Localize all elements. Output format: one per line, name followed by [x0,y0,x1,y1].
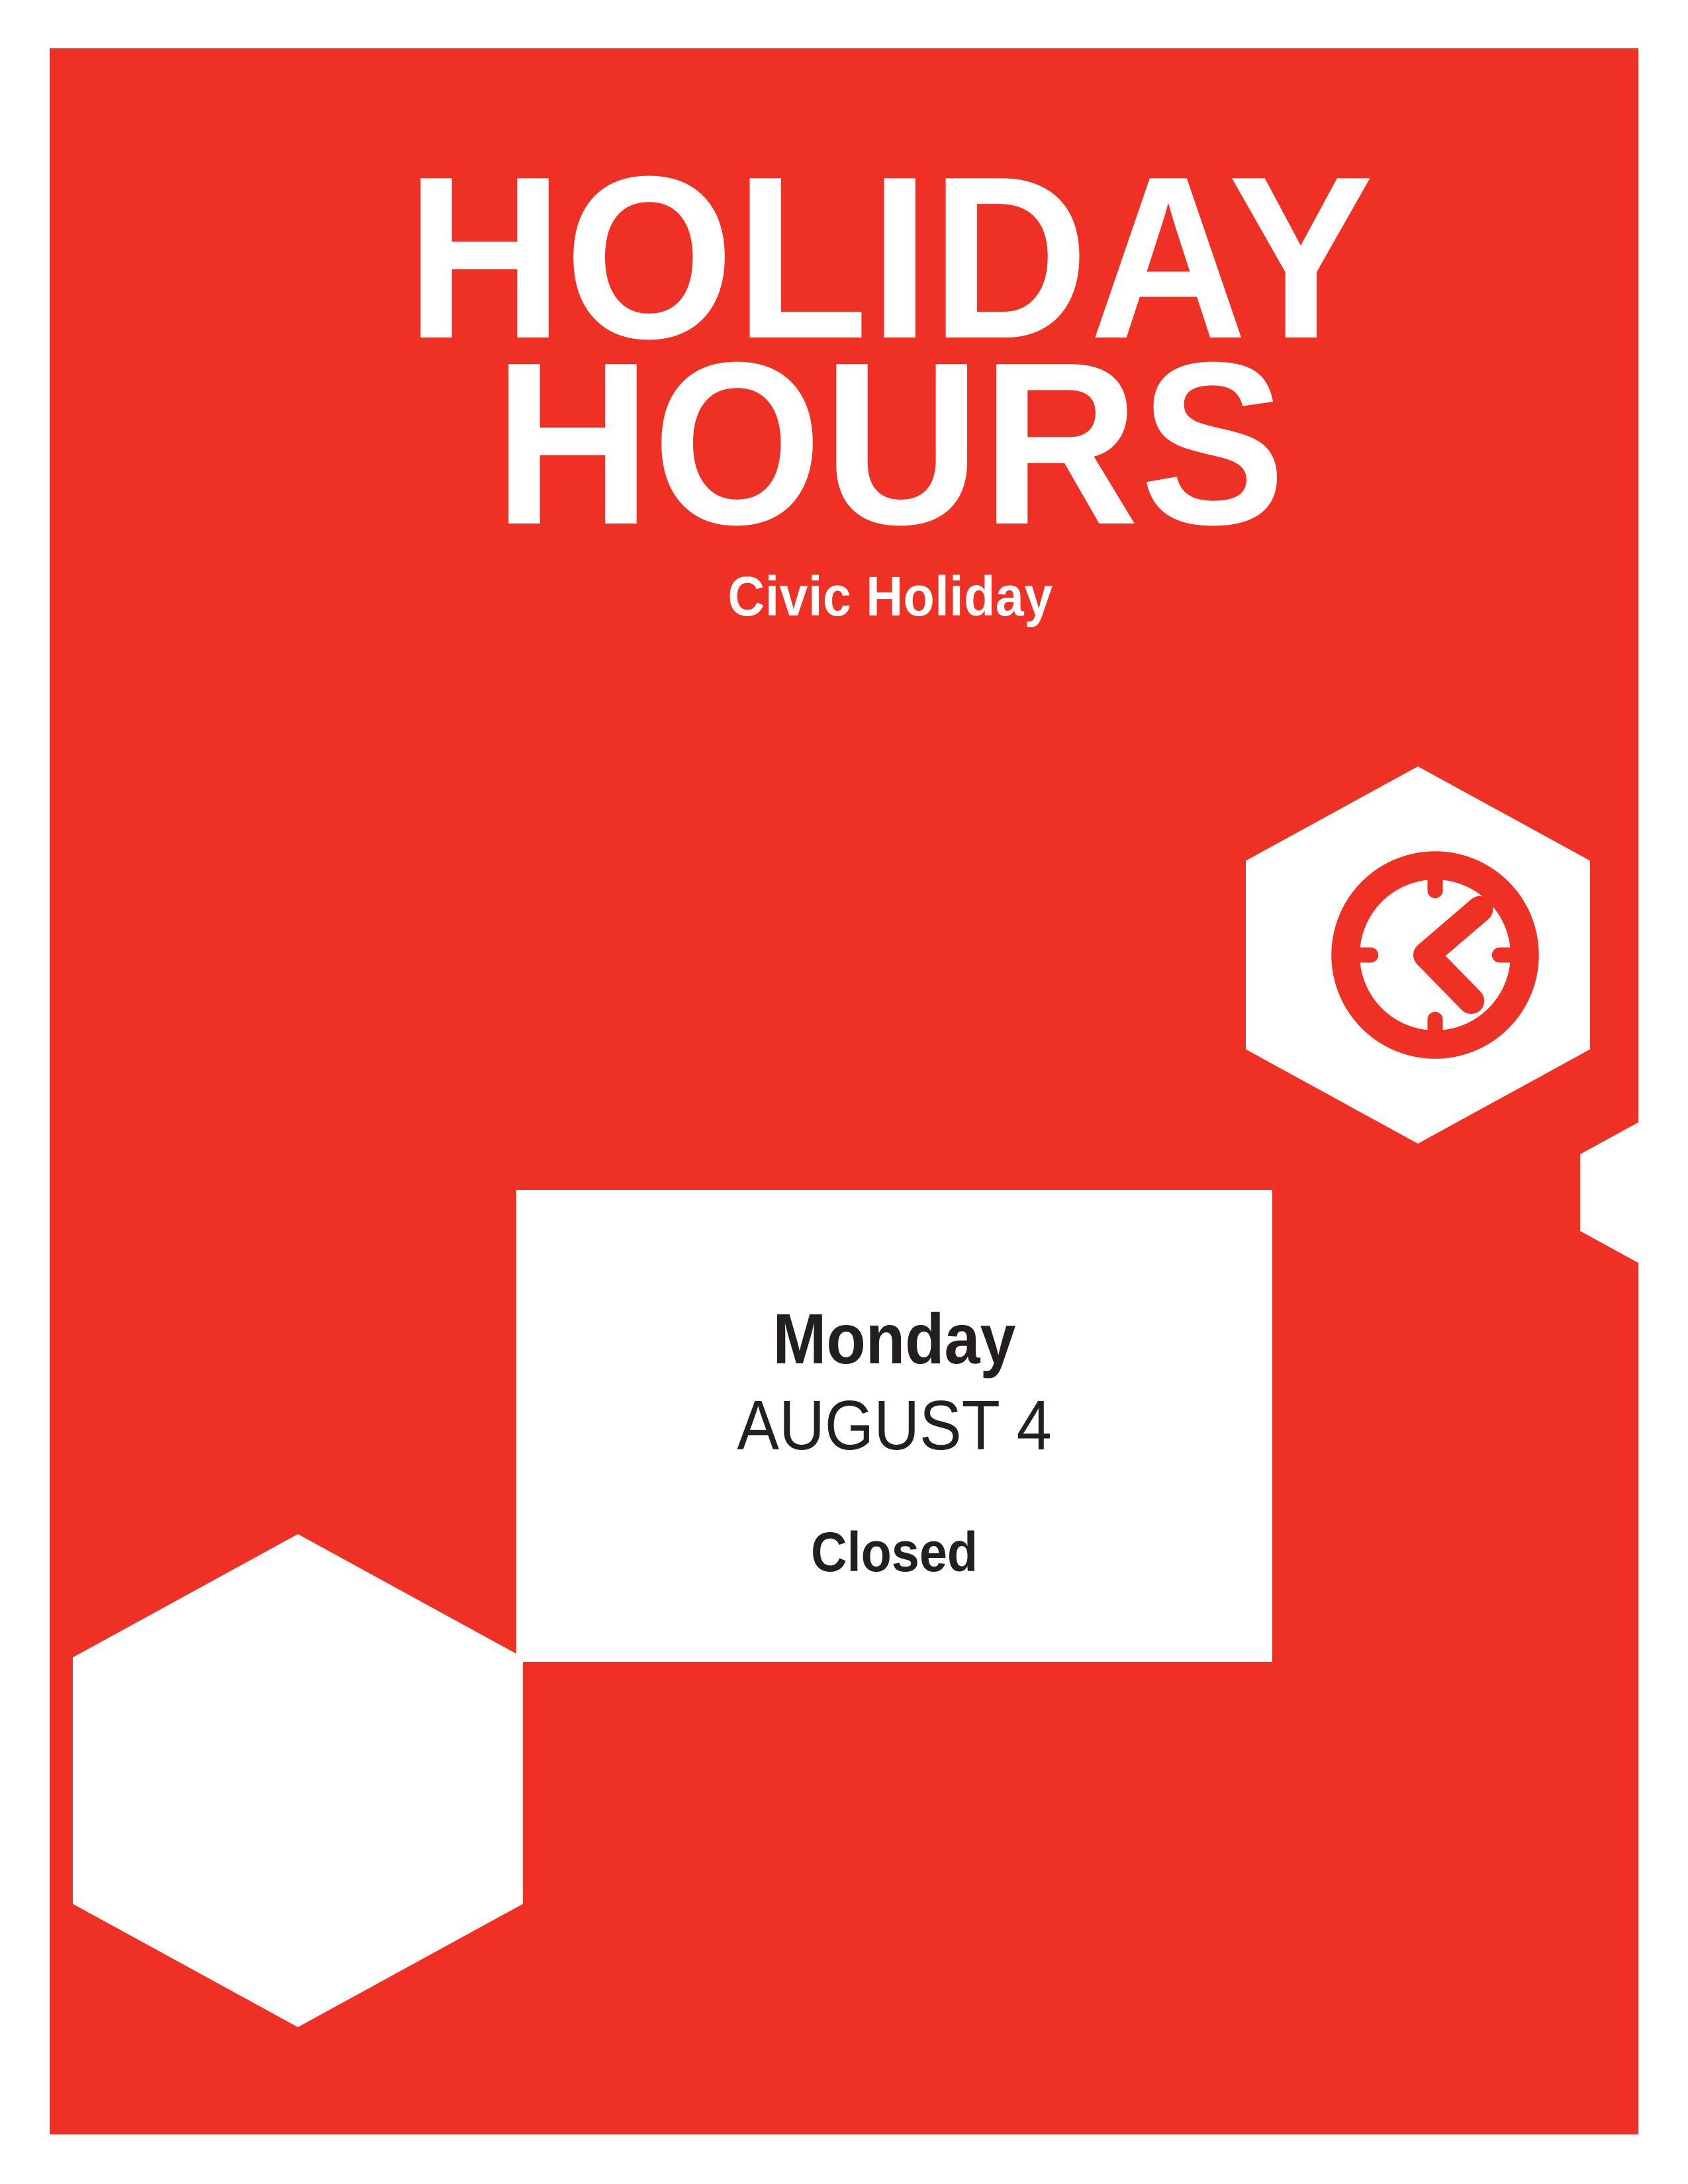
hexagon-decoration-corner [73,1534,523,2027]
holiday-info-card: Monday AUGUST 4 Closed [516,1190,1272,1662]
page-subtitle: Civic Holiday [379,569,1402,624]
card-date: AUGUST 4 [737,1388,1051,1463]
card-weekday: Monday [773,1300,1015,1378]
page-title-line-2: HOURS [367,353,1413,534]
hexagon-decoration-small [1580,1116,1638,1269]
headline-block: HOLIDAY HOURS Civic Holiday [334,167,1446,624]
clock-icon [1326,846,1544,1064]
poster-red-panel: HOLIDAY HOURS Civic Holiday [50,48,1638,2134]
holiday-hours-poster: HOLIDAY HOURS Civic Holiday [0,0,1688,2184]
card-status-badge: Closed [811,1522,978,1582]
